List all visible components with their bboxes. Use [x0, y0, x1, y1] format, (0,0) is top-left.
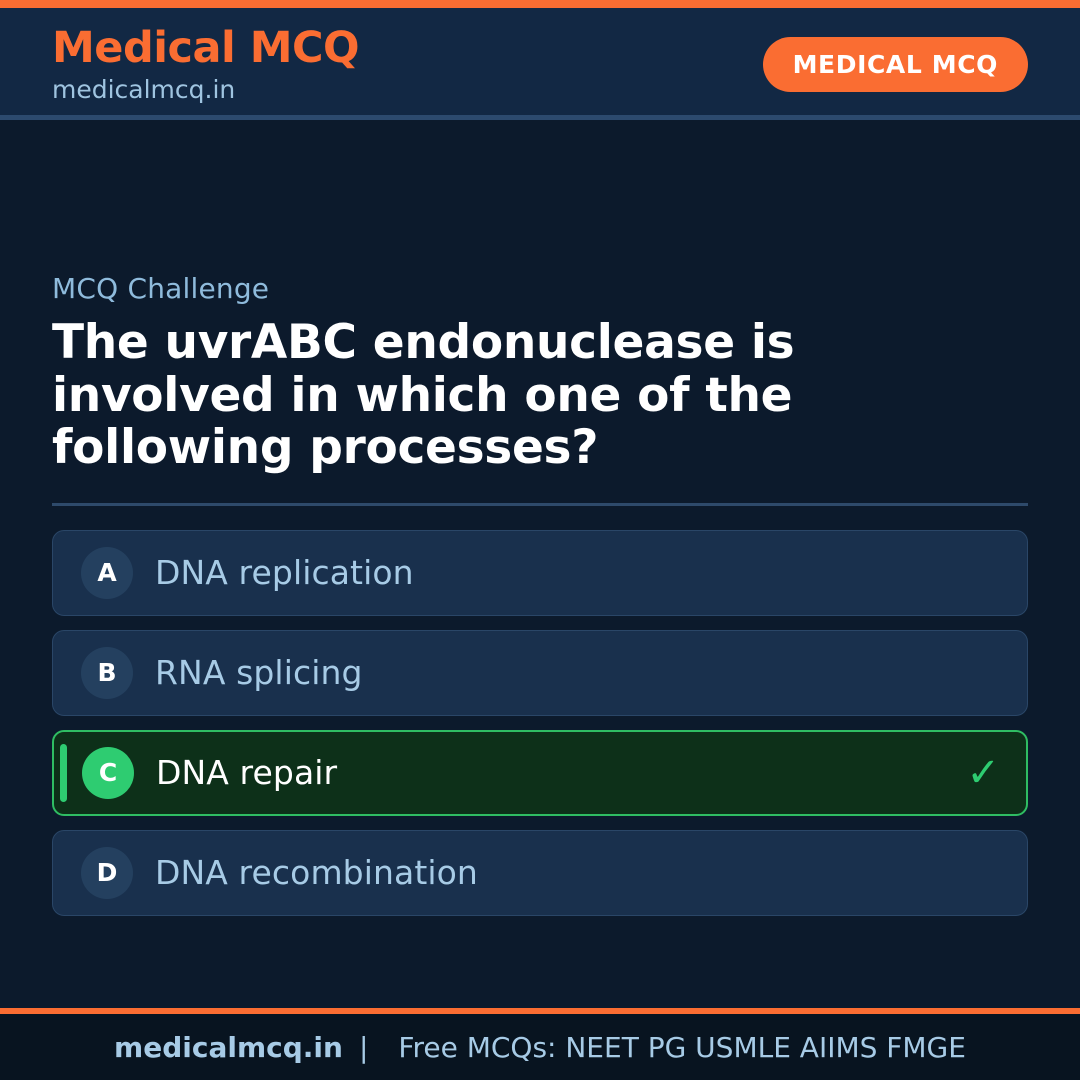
mcq-card: Medical MCQ medicalmcq.in MEDICAL MCQ MC… — [0, 0, 1080, 1080]
option-row-d[interactable]: D DNA recombination — [52, 830, 1028, 916]
question-text: The uvrABC endonuclease is involved in w… — [52, 317, 932, 475]
footer-separator: | — [343, 1031, 384, 1064]
top-accent-rule — [0, 0, 1080, 8]
options-list: A DNA replication B RNA splicing C DNA r… — [52, 530, 1028, 916]
option-letter-badge: A — [81, 547, 133, 599]
option-letter-badge: B — [81, 647, 133, 699]
option-label: RNA splicing — [155, 653, 363, 692]
main-content: MCQ Challenge The uvrABC endonuclease is… — [0, 120, 1080, 1008]
kicker-label: MCQ Challenge — [52, 272, 1028, 305]
brand-subtitle: medicalmcq.in — [52, 77, 359, 102]
option-label: DNA replication — [155, 553, 414, 592]
option-row-c[interactable]: C DNA repair ✓ — [52, 730, 1028, 816]
check-icon: ✓ — [966, 753, 1000, 793]
brand-block: Medical MCQ medicalmcq.in — [52, 27, 359, 102]
option-row-b[interactable]: B RNA splicing — [52, 630, 1028, 716]
correct-accent-bar — [60, 744, 67, 802]
option-label: DNA recombination — [155, 853, 478, 892]
footer-exams: Free MCQs: NEET PG USMLE AIIMS FMGE — [384, 1031, 966, 1064]
option-letter-badge: D — [81, 847, 133, 899]
footer-bar: medicalmcq.in | Free MCQs: NEET PG USMLE… — [0, 1008, 1080, 1080]
section-divider — [52, 503, 1028, 506]
brand-title: Medical MCQ — [52, 27, 359, 70]
option-label: DNA repair — [156, 753, 337, 792]
header-badge: MEDICAL MCQ — [763, 37, 1028, 92]
option-row-a[interactable]: A DNA replication — [52, 530, 1028, 616]
footer-site: medicalmcq.in — [114, 1031, 343, 1064]
header-bar: Medical MCQ medicalmcq.in MEDICAL MCQ — [0, 8, 1080, 120]
option-letter-badge: C — [82, 747, 134, 799]
